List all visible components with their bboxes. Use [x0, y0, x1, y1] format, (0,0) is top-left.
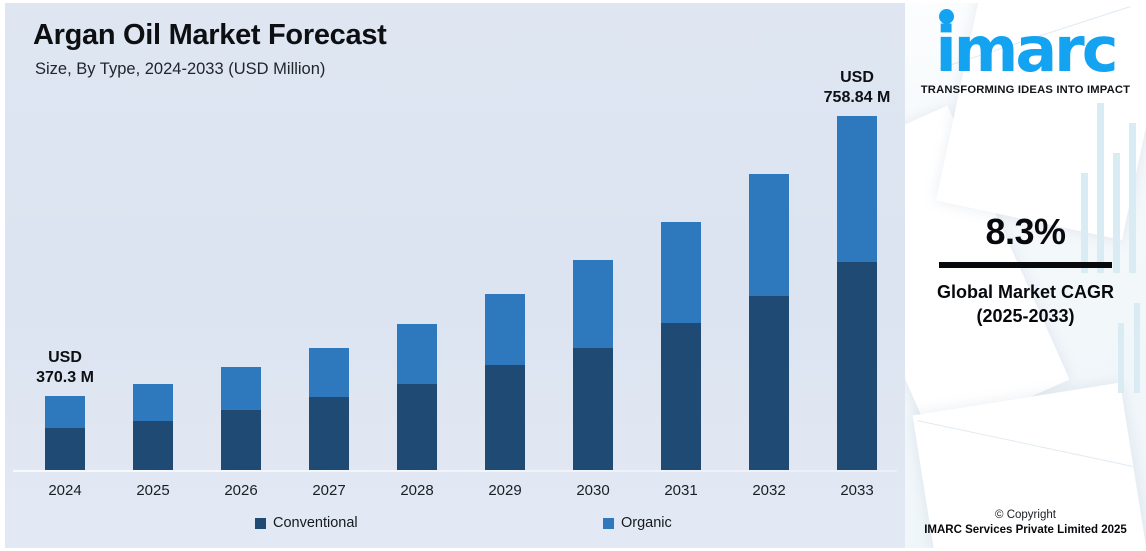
x-axis-label-2033: 2033	[797, 482, 905, 499]
bar-segment-organic-2028	[397, 324, 437, 384]
bar-segment-conventional-2030	[573, 348, 613, 470]
bar-segment-organic-2026	[221, 367, 261, 410]
bar-segment-organic-2025	[133, 384, 173, 421]
chart-legend: ConventionalOrganic	[5, 515, 905, 539]
bar-2033	[837, 116, 877, 470]
bar-segment-conventional-2026	[221, 410, 261, 470]
plot-area: 2024202520262027202820292030203120322033…	[5, 3, 905, 473]
start-value-amount: 370.3 M	[5, 368, 125, 388]
imarc-logo: imarc TRANSFORMING IDEAS INTO IMPACT	[905, 21, 1146, 96]
cagr-label: Global Market CAGR	[905, 280, 1146, 306]
art-stripe-6	[1118, 323, 1124, 393]
brand-panel: imarc TRANSFORMING IDEAS INTO IMPACT 8.3…	[905, 3, 1146, 548]
bar-2031	[661, 222, 701, 470]
logo-text: imarc	[935, 13, 1115, 86]
bar-segment-organic-2030	[573, 260, 613, 348]
bar-segment-organic-2032	[749, 174, 789, 296]
bar-segment-conventional-2033	[837, 262, 877, 470]
bar-segment-conventional-2024	[45, 428, 85, 470]
bar-segment-conventional-2025	[133, 421, 173, 470]
legend-conventional[interactable]: Conventional	[255, 515, 358, 531]
bar-2027	[309, 348, 349, 470]
cagr-value: 8.3%	[905, 211, 1146, 253]
bar-segment-conventional-2032	[749, 296, 789, 470]
bar-2024	[45, 396, 85, 470]
bar-segment-conventional-2029	[485, 365, 525, 470]
start-value-currency: USD	[5, 348, 125, 368]
cagr-divider	[939, 262, 1112, 268]
end-value-label: USD 758.84 M	[797, 68, 905, 107]
legend-conventional-swatch-icon	[255, 518, 266, 529]
copyright-line-1: © Copyright	[905, 509, 1146, 521]
bar-2025	[133, 384, 173, 470]
legend-organic[interactable]: Organic	[603, 515, 672, 531]
cagr-block: 8.3% Global Market CAGR (2025-2033)	[905, 211, 1146, 327]
legend-organic-swatch-icon	[603, 518, 614, 529]
bar-2032	[749, 174, 789, 470]
bar-segment-conventional-2028	[397, 384, 437, 470]
cagr-period: (2025-2033)	[905, 306, 1146, 327]
end-value-currency: USD	[797, 68, 905, 88]
chart-page: Argan Oil Market Forecast Size, By Type,…	[0, 0, 1146, 551]
axis-baseline	[13, 470, 897, 472]
bar-segment-organic-2031	[661, 222, 701, 323]
legend-organic-label: Organic	[621, 515, 672, 531]
bar-2030	[573, 260, 613, 470]
end-value-amount: 758.84 M	[797, 88, 905, 108]
bar-segment-organic-2024	[45, 396, 85, 428]
bar-segment-organic-2029	[485, 294, 525, 365]
bar-2028	[397, 324, 437, 470]
copyright-line-2: IMARC Services Private Limited 2025	[905, 524, 1146, 536]
logo-wordmark: imarc	[935, 21, 1115, 80]
bar-segment-organic-2033	[837, 116, 877, 262]
bar-segment-conventional-2027	[309, 397, 349, 470]
chart-panel: Argan Oil Market Forecast Size, By Type,…	[5, 3, 905, 548]
bar-segment-conventional-2031	[661, 323, 701, 470]
bar-2029	[485, 294, 525, 470]
bar-segment-organic-2027	[309, 348, 349, 397]
bar-2026	[221, 367, 261, 470]
copyright-block: © Copyright IMARC Services Private Limit…	[905, 509, 1146, 536]
legend-conventional-label: Conventional	[273, 515, 358, 531]
start-value-label: USD 370.3 M	[5, 348, 125, 387]
